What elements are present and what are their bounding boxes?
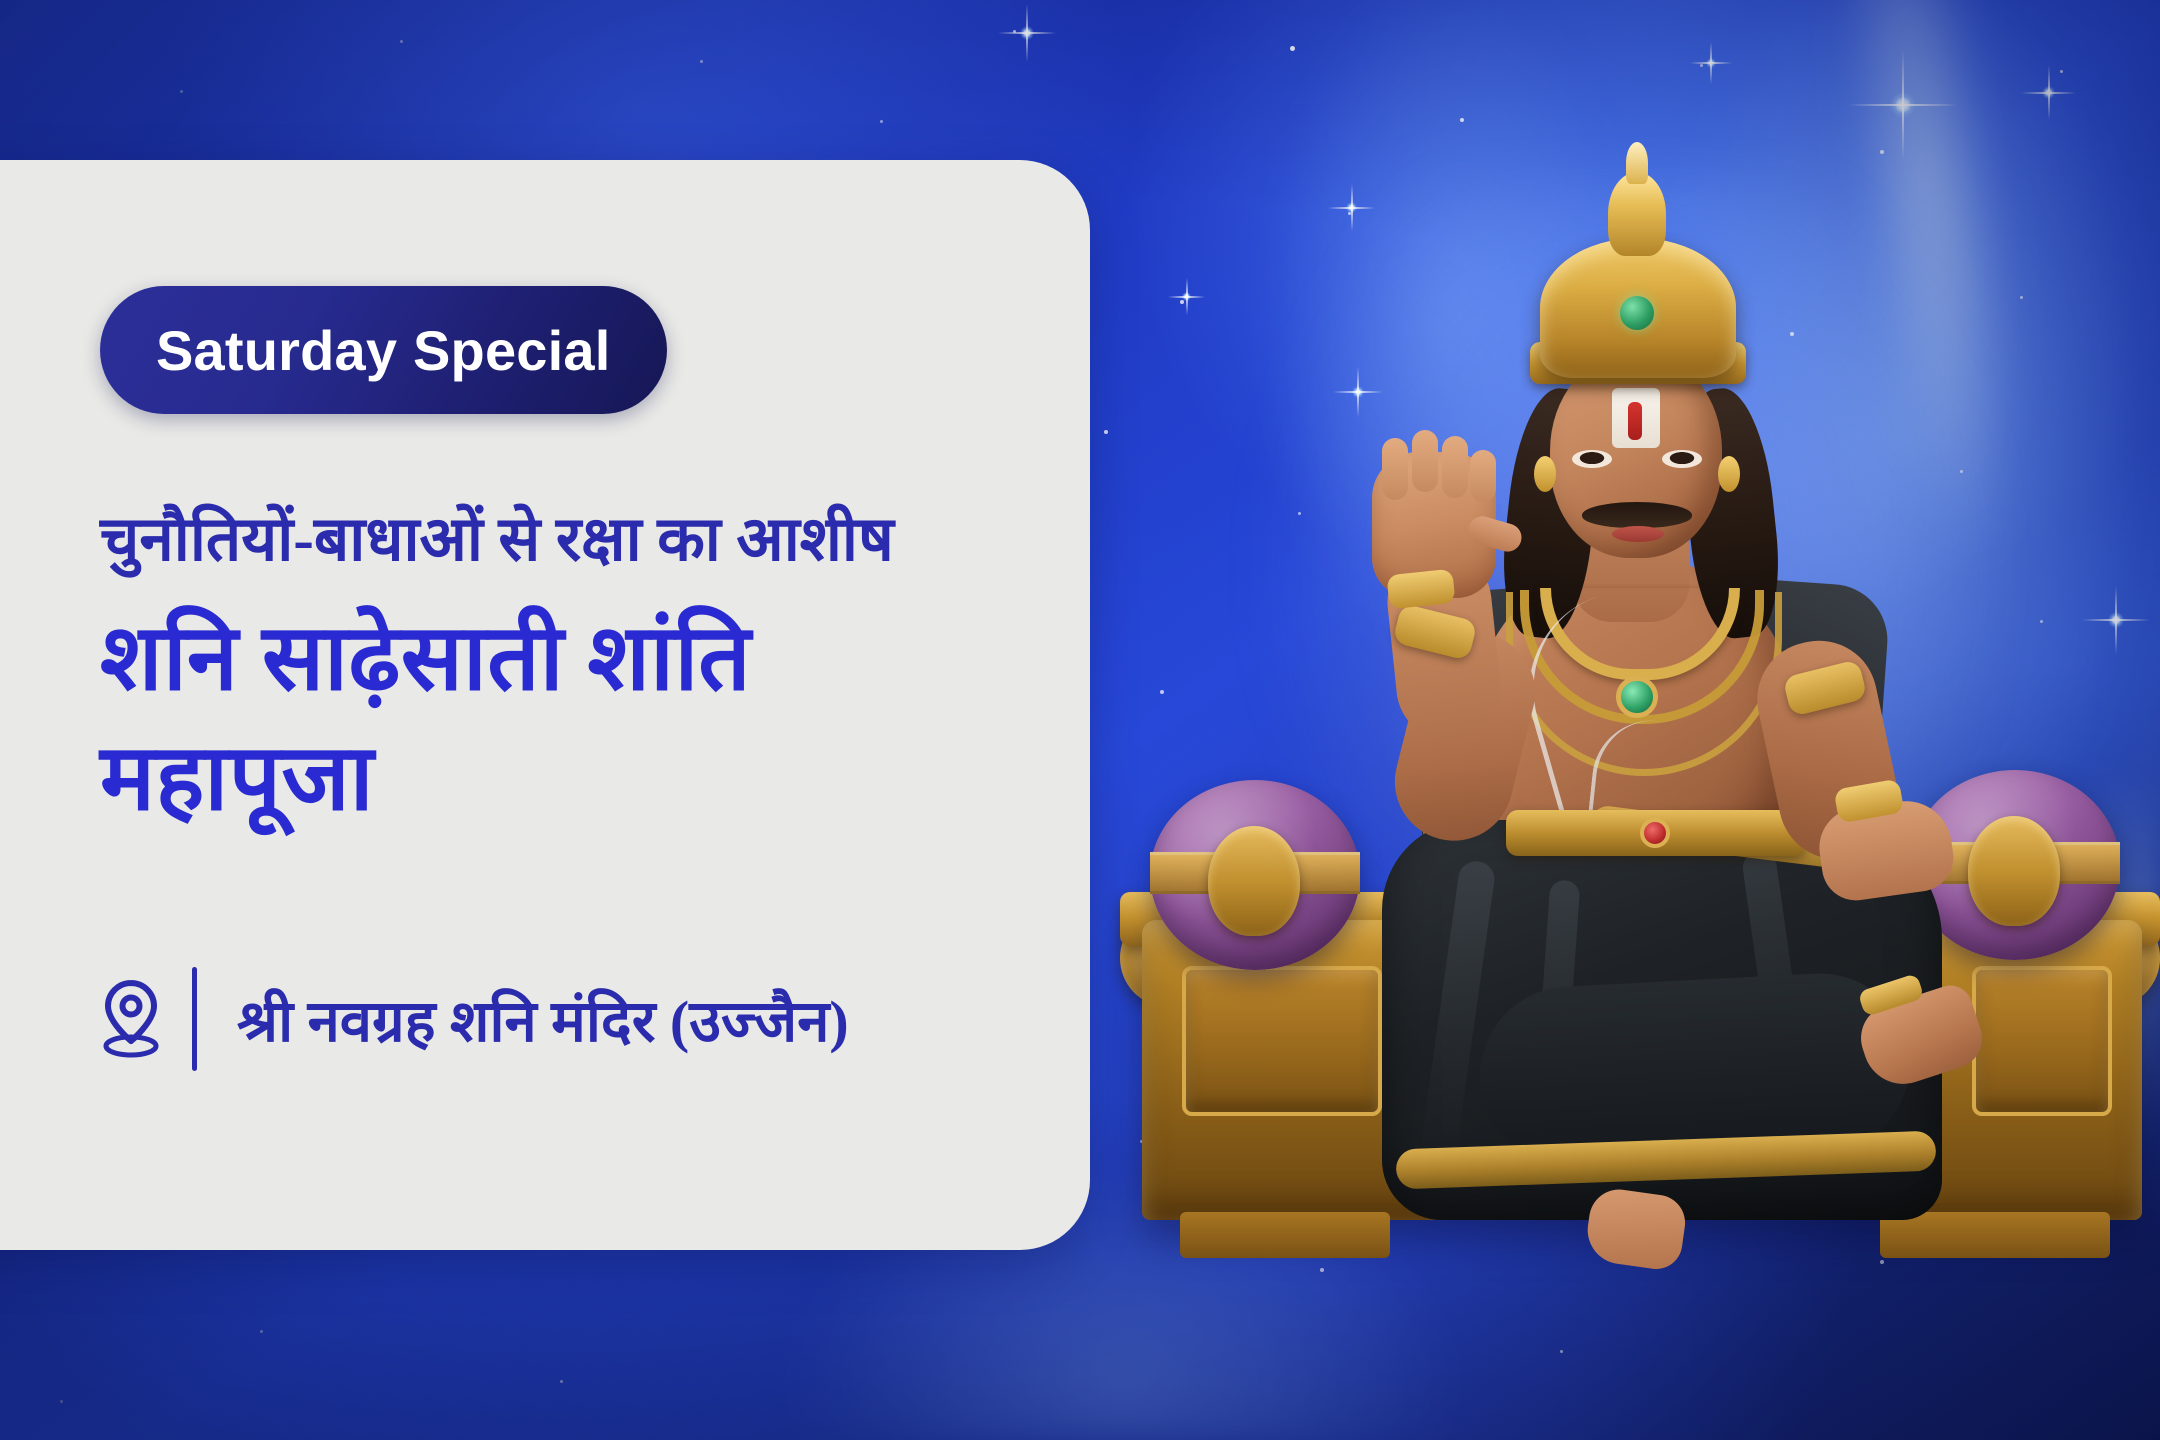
throne-panel (1972, 966, 2112, 1116)
venue-divider (192, 967, 197, 1071)
venue-row: श्री नवग्रह शनि मंदिर (उज्जैन) (100, 967, 1012, 1071)
earring-right (1718, 456, 1740, 492)
belt-gem (1640, 818, 1670, 848)
bracelet-left (1386, 569, 1455, 610)
finger (1470, 450, 1496, 502)
crown-finial (1608, 172, 1666, 256)
finger (1442, 436, 1468, 498)
mustache (1582, 502, 1692, 528)
venue-name: श्री नवग्रह शनि मंदिर (उज्जैन) (237, 979, 849, 1058)
eye-left (1572, 450, 1612, 468)
card-content: Saturday Special चुनौतियों-बाधाओं से रक्… (100, 160, 1012, 1250)
earring-left (1534, 456, 1556, 492)
content-card: Saturday Special चुनौतियों-बाधाओं से रक्… (0, 160, 1090, 1250)
throne-panel (1182, 966, 1382, 1116)
headline-line-1: शनि साढ़ेसाती शांति (100, 599, 980, 719)
headline-line-2: महापूजा (100, 719, 980, 839)
banner-subtitle: चुनौतियों-बाधाओं से रक्षा का आशीष (100, 506, 1012, 575)
saturday-special-badge[interactable]: Saturday Special (100, 286, 667, 414)
cushion-medallion (1208, 826, 1300, 936)
crown-tip (1626, 142, 1648, 184)
finger (1412, 430, 1438, 492)
banner-headline: शनि साढ़ेसाती शांति महापूजा (100, 599, 980, 838)
lips (1612, 526, 1664, 542)
eye-right (1662, 450, 1702, 468)
shani-dev-illustration (1120, 120, 2160, 1440)
tilak-red-stripe (1628, 402, 1642, 440)
location-pin-icon (100, 979, 186, 1059)
throne-foot (1180, 1212, 1390, 1258)
cushion-left (1150, 780, 1360, 970)
banner-stage: Saturday Special चुनौतियों-बाधाओं से रक्… (0, 0, 2160, 1440)
throne-foot (1880, 1212, 2110, 1258)
cushion-medallion (1968, 816, 2060, 926)
crown-gem (1620, 296, 1654, 330)
finger (1382, 438, 1408, 500)
